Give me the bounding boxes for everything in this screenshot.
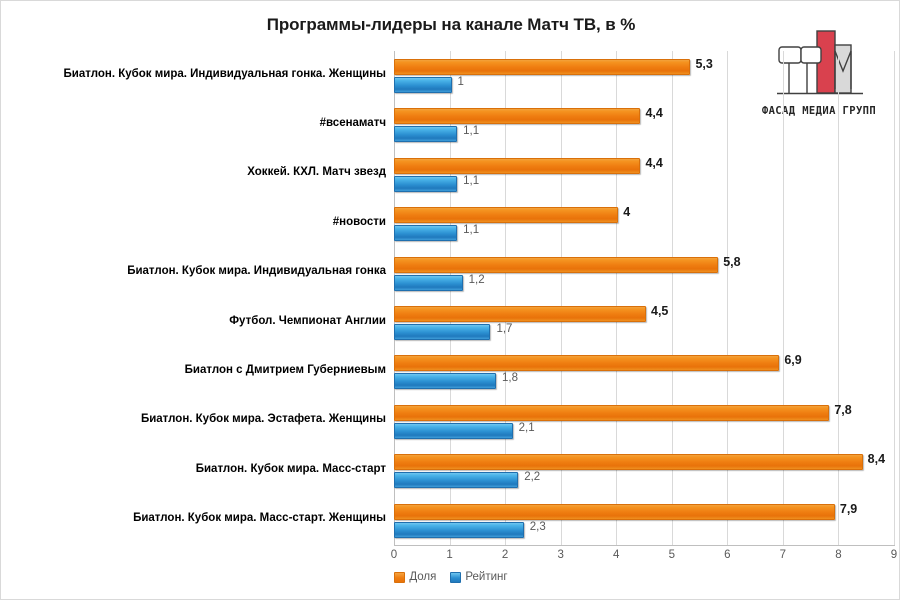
value-label-rating: 2,1 <box>519 422 535 434</box>
value-label-share: 5,8 <box>723 255 740 269</box>
legend-item[interactable]: Доля <box>394 571 436 583</box>
legend-item[interactable]: Рейтинг <box>450 571 507 583</box>
value-label-share: 4,5 <box>651 304 668 318</box>
bar-rating[interactable] <box>394 176 457 192</box>
value-label-rating: 2,3 <box>530 521 546 533</box>
category-label: Футбол. Чемпионат Англии <box>1 315 386 327</box>
bar-share[interactable] <box>394 504 835 520</box>
value-label-share: 7,8 <box>834 403 851 417</box>
category-label: Биатлон. Кубок мира. Эстафета. Женщины <box>1 413 386 425</box>
bar-share[interactable] <box>394 207 618 223</box>
bar-rating[interactable] <box>394 77 452 93</box>
bar-rating[interactable] <box>394 373 496 389</box>
chart-category-row: Биатлон с Дмитрием Губерниевым6,91,8 <box>1 347 900 396</box>
bar-share[interactable] <box>394 306 646 322</box>
bar-share[interactable] <box>394 355 779 371</box>
value-label-rating: 1 <box>458 76 464 88</box>
bar-share[interactable] <box>394 257 718 273</box>
x-tick-label: 0 <box>379 549 409 561</box>
bar-share[interactable] <box>394 108 640 124</box>
value-label-share: 7,9 <box>840 502 857 516</box>
value-label-rating: 1,8 <box>502 372 518 384</box>
chart-legend: ДоляРейтинг <box>1 571 900 583</box>
value-label-share: 4 <box>623 205 630 219</box>
value-label-rating: 1,1 <box>463 125 479 137</box>
value-label-rating: 1,7 <box>496 323 512 335</box>
x-tick-label: 6 <box>712 549 742 561</box>
value-label-share: 5,3 <box>695 57 712 71</box>
bar-share[interactable] <box>394 405 829 421</box>
chart-category-row: Биатлон. Кубок мира. Индивидуальная гонк… <box>1 51 900 100</box>
bar-rating[interactable] <box>394 472 518 488</box>
category-label: Биатлон. Кубок мира. Индивидуальная гонк… <box>1 68 386 80</box>
chart-category-row: Биатлон. Кубок мира. Масс-старт. Женщины… <box>1 496 900 545</box>
value-label-share: 6,9 <box>784 353 801 367</box>
category-label: Биатлон. Кубок мира. Масс-старт. Женщины <box>1 512 386 524</box>
value-label-share: 4,4 <box>645 156 662 170</box>
chart-category-row: #новости41,1 <box>1 199 900 248</box>
value-label-rating: 1,1 <box>463 224 479 236</box>
bar-share[interactable] <box>394 59 690 75</box>
legend-swatch-icon <box>450 572 461 583</box>
bar-rating[interactable] <box>394 522 524 538</box>
x-tick-label: 2 <box>490 549 520 561</box>
category-label: #всенаматч <box>1 117 386 129</box>
legend-swatch-icon <box>394 572 405 583</box>
bar-rating[interactable] <box>394 225 457 241</box>
x-tick-label: 7 <box>768 549 798 561</box>
x-tick-label: 1 <box>435 549 465 561</box>
chart-category-row: Футбол. Чемпионат Англии4,51,7 <box>1 298 900 347</box>
category-label: #новости <box>1 216 386 228</box>
chart-category-row: Биатлон. Кубок мира. Эстафета. Женщины7,… <box>1 397 900 446</box>
chart-container: Программы-лидеры на канале Матч ТВ, в % … <box>0 0 900 600</box>
x-tick-label: 3 <box>546 549 576 561</box>
chart-category-row: Биатлон. Кубок мира. Индивидуальная гонк… <box>1 249 900 298</box>
category-label: Биатлон. Кубок мира. Индивидуальная гонк… <box>1 265 386 277</box>
value-label-rating: 1,1 <box>463 175 479 187</box>
bar-rating[interactable] <box>394 423 513 439</box>
chart-category-row: #всенаматч4,41,1 <box>1 100 900 149</box>
category-label: Биатлон. Кубок мира. Масс-старт <box>1 463 386 475</box>
bar-rating[interactable] <box>394 126 457 142</box>
category-label: Биатлон с Дмитрием Губерниевым <box>1 364 386 376</box>
bar-share[interactable] <box>394 158 640 174</box>
value-label-share: 4,4 <box>645 106 662 120</box>
legend-label: Доля <box>409 571 436 583</box>
value-label-share: 8,4 <box>868 452 885 466</box>
bar-share[interactable] <box>394 454 863 470</box>
x-tick-label: 5 <box>657 549 687 561</box>
bar-rating[interactable] <box>394 275 463 291</box>
chart-category-row: Биатлон. Кубок мира. Масс-старт8,42,2 <box>1 446 900 495</box>
x-tick-label: 9 <box>879 549 900 561</box>
x-axis-line <box>394 545 895 546</box>
legend-label: Рейтинг <box>465 571 507 583</box>
value-label-rating: 1,2 <box>469 274 485 286</box>
x-tick-label: 8 <box>823 549 853 561</box>
value-label-rating: 2,2 <box>524 471 540 483</box>
chart-category-row: Хоккей. КХЛ. Матч звезд4,41,1 <box>1 150 900 199</box>
x-tick-label: 4 <box>601 549 631 561</box>
bar-rating[interactable] <box>394 324 490 340</box>
category-label: Хоккей. КХЛ. Матч звезд <box>1 166 386 178</box>
